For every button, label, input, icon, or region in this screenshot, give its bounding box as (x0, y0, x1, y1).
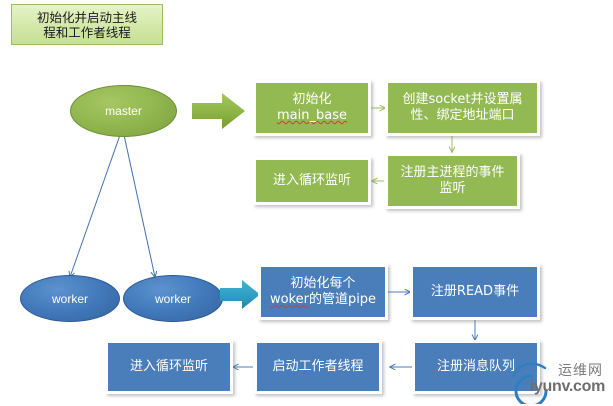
node-start-worker-threads-label: 启动工作者线程 (257, 359, 379, 375)
watermark: 运维网 iyunv.com (511, 354, 607, 404)
node-init-worker-pipe-misspelled: woker (270, 292, 309, 307)
node-init-main-base-line1: 初始化 (292, 92, 331, 107)
node-enter-loop-listen-2-label: 进入循环监听 (108, 359, 230, 375)
node-register-main-event[interactable]: 注册主进程的事件 监听 (385, 153, 520, 209)
node-master[interactable]: master (70, 85, 177, 137)
node-enter-loop-listen-label: 进入循环监听 (256, 173, 368, 189)
node-enter-loop-listen[interactable]: 进入循环监听 (253, 157, 371, 205)
node-init-main-base-line2: main_base (277, 108, 347, 123)
node-master-label: master (105, 104, 142, 118)
node-create-socket-line1: 创建socket并设置属 (402, 92, 522, 107)
node-init-main-base[interactable]: 初始化 main_base (253, 80, 371, 136)
diagram-title-line2: 程和工作者线程 (34, 25, 140, 40)
node-create-socket-line2: 性、绑定地址端口 (410, 108, 514, 123)
node-worker-2-label: worker (155, 292, 191, 306)
diagram-title-box: 初始化并启动主线 程和工作者线程 (11, 4, 163, 45)
node-start-worker-threads[interactable]: 启动工作者线程 (254, 340, 382, 394)
node-register-main-event-line2: 监听 (439, 181, 465, 196)
node-init-worker-pipe-line2: 的管道pipe (309, 292, 376, 307)
node-worker-1-label: worker (52, 292, 88, 306)
node-register-read-event-label: 注册READ事件 (413, 284, 537, 300)
node-worker-1[interactable]: worker (20, 275, 120, 322)
connector-master-to-worker-1 (70, 135, 120, 277)
block-arrow-right-green (190, 90, 248, 132)
connector-master-to-worker-2 (124, 135, 155, 277)
node-init-worker-pipe[interactable]: 初始化每个 woker的管道pipe (258, 264, 388, 320)
node-enter-loop-listen-2[interactable]: 进入循环监听 (105, 340, 233, 394)
watermark-en-text: iyunv.com (530, 378, 605, 396)
node-init-worker-pipe-line1: 初始化每个 (290, 276, 355, 291)
node-register-main-event-line1: 注册主进程的事件 (400, 165, 504, 180)
diagram-canvas: 初始化并启动主线 程和工作者线程 (0, 0, 613, 406)
diagram-title-line1: 初始化并启动主线 (34, 10, 140, 25)
node-register-read-event[interactable]: 注册READ事件 (410, 264, 540, 320)
node-create-socket[interactable]: 创建socket并设置属 性、绑定地址端口 (385, 80, 540, 136)
block-arrow-right-blue (218, 278, 262, 311)
node-worker-2[interactable]: worker (123, 275, 223, 322)
watermark-cn-text: 运维网 (558, 360, 603, 380)
